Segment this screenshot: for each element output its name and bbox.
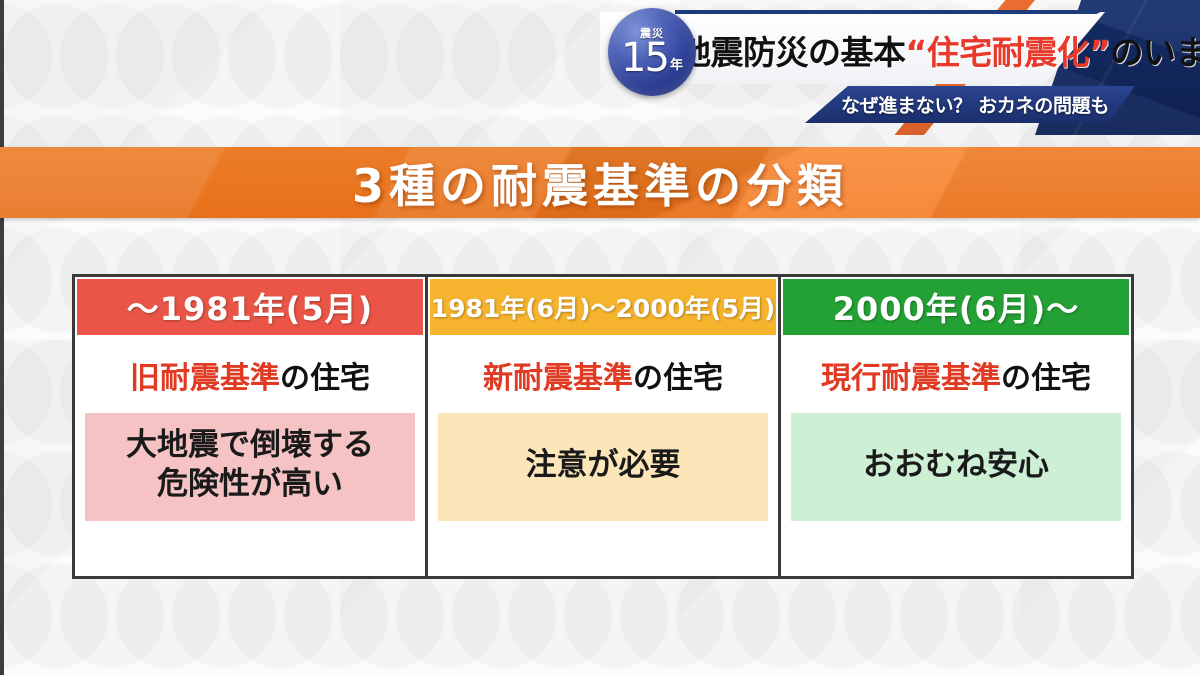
banner-headline: 地震防災の基本“住宅耐震化”のいま (678, 22, 1108, 78)
banner-headline-underline (675, 10, 1105, 14)
column-note: おおむね安心 (791, 413, 1121, 521)
table-column-old-standard: 〜1981年(5月) 旧耐震基準の住宅 大地震で倒壊する 危険性が高い (75, 277, 425, 576)
badge-unit: 年 (670, 60, 683, 72)
program-banner: 地震防災の基本“住宅耐震化”のいま 震災 15 年 なぜ進まない？ おカネの問題… (600, 0, 1200, 135)
standard-suffix-text: の住宅 (280, 353, 370, 397)
section-title-band: 3種の耐震基準の分類 (0, 147, 1200, 218)
standard-accent-text: 旧耐震基準 (130, 353, 280, 397)
standard-suffix-text: の住宅 (1001, 353, 1091, 397)
standard-suffix-text: の住宅 (633, 353, 723, 397)
banner-headline-part2: のいま (1110, 26, 1200, 74)
column-note-text: 大地震で倒壊する 危険性が高い (126, 426, 374, 504)
standard-accent-text: 新耐震基準 (483, 353, 633, 397)
table-column-current-standard: 2000年(6月)〜 現行耐震基準の住宅 おおむね安心 (778, 277, 1131, 576)
banner-headline-highlight: “住宅耐震化” (906, 26, 1111, 74)
column-standard-name: 新耐震基準の住宅 (428, 337, 778, 413)
banner-headline-part1: 地震防災の基本 (678, 26, 906, 74)
note-line-2: 危険性が高い (157, 466, 343, 502)
column-standard-name: 旧耐震基準の住宅 (75, 337, 425, 413)
banner-subheadline-plate: なぜ進まない？ おカネの問題も (805, 86, 1135, 123)
column-note-text: 注意が必要 (526, 446, 681, 485)
column-header-period: 2000年(6月)〜 (783, 279, 1129, 335)
page-title: 3種の耐震基準の分類 (352, 150, 848, 216)
standard-accent-text: 現行耐震基準 (821, 353, 1001, 397)
table-column-new-standard: 1981年(6月)〜2000年(5月) 新耐震基準の住宅 注意が必要 (425, 277, 778, 576)
column-note-text: おおむね安心 (863, 446, 1049, 485)
column-note: 大地震で倒壊する 危険性が高い (85, 413, 415, 521)
note-line-1: 大地震で倒壊する (126, 427, 374, 463)
left-edge-bar (0, 0, 4, 675)
anniversary-badge: 震災 15 年 (608, 8, 696, 96)
column-header-period: 〜1981年(5月) (77, 279, 423, 335)
column-header-period: 1981年(6月)〜2000年(5月) (430, 279, 776, 335)
seismic-standards-table: 〜1981年(5月) 旧耐震基準の住宅 大地震で倒壊する 危険性が高い 1981… (72, 274, 1134, 579)
badge-number-group: 15 年 (621, 40, 683, 76)
column-note: 注意が必要 (438, 413, 768, 521)
column-standard-name: 現行耐震基準の住宅 (781, 337, 1131, 413)
badge-number: 15 (621, 40, 668, 76)
banner-subheadline: なぜ進まない？ おカネの問題も (831, 91, 1109, 118)
